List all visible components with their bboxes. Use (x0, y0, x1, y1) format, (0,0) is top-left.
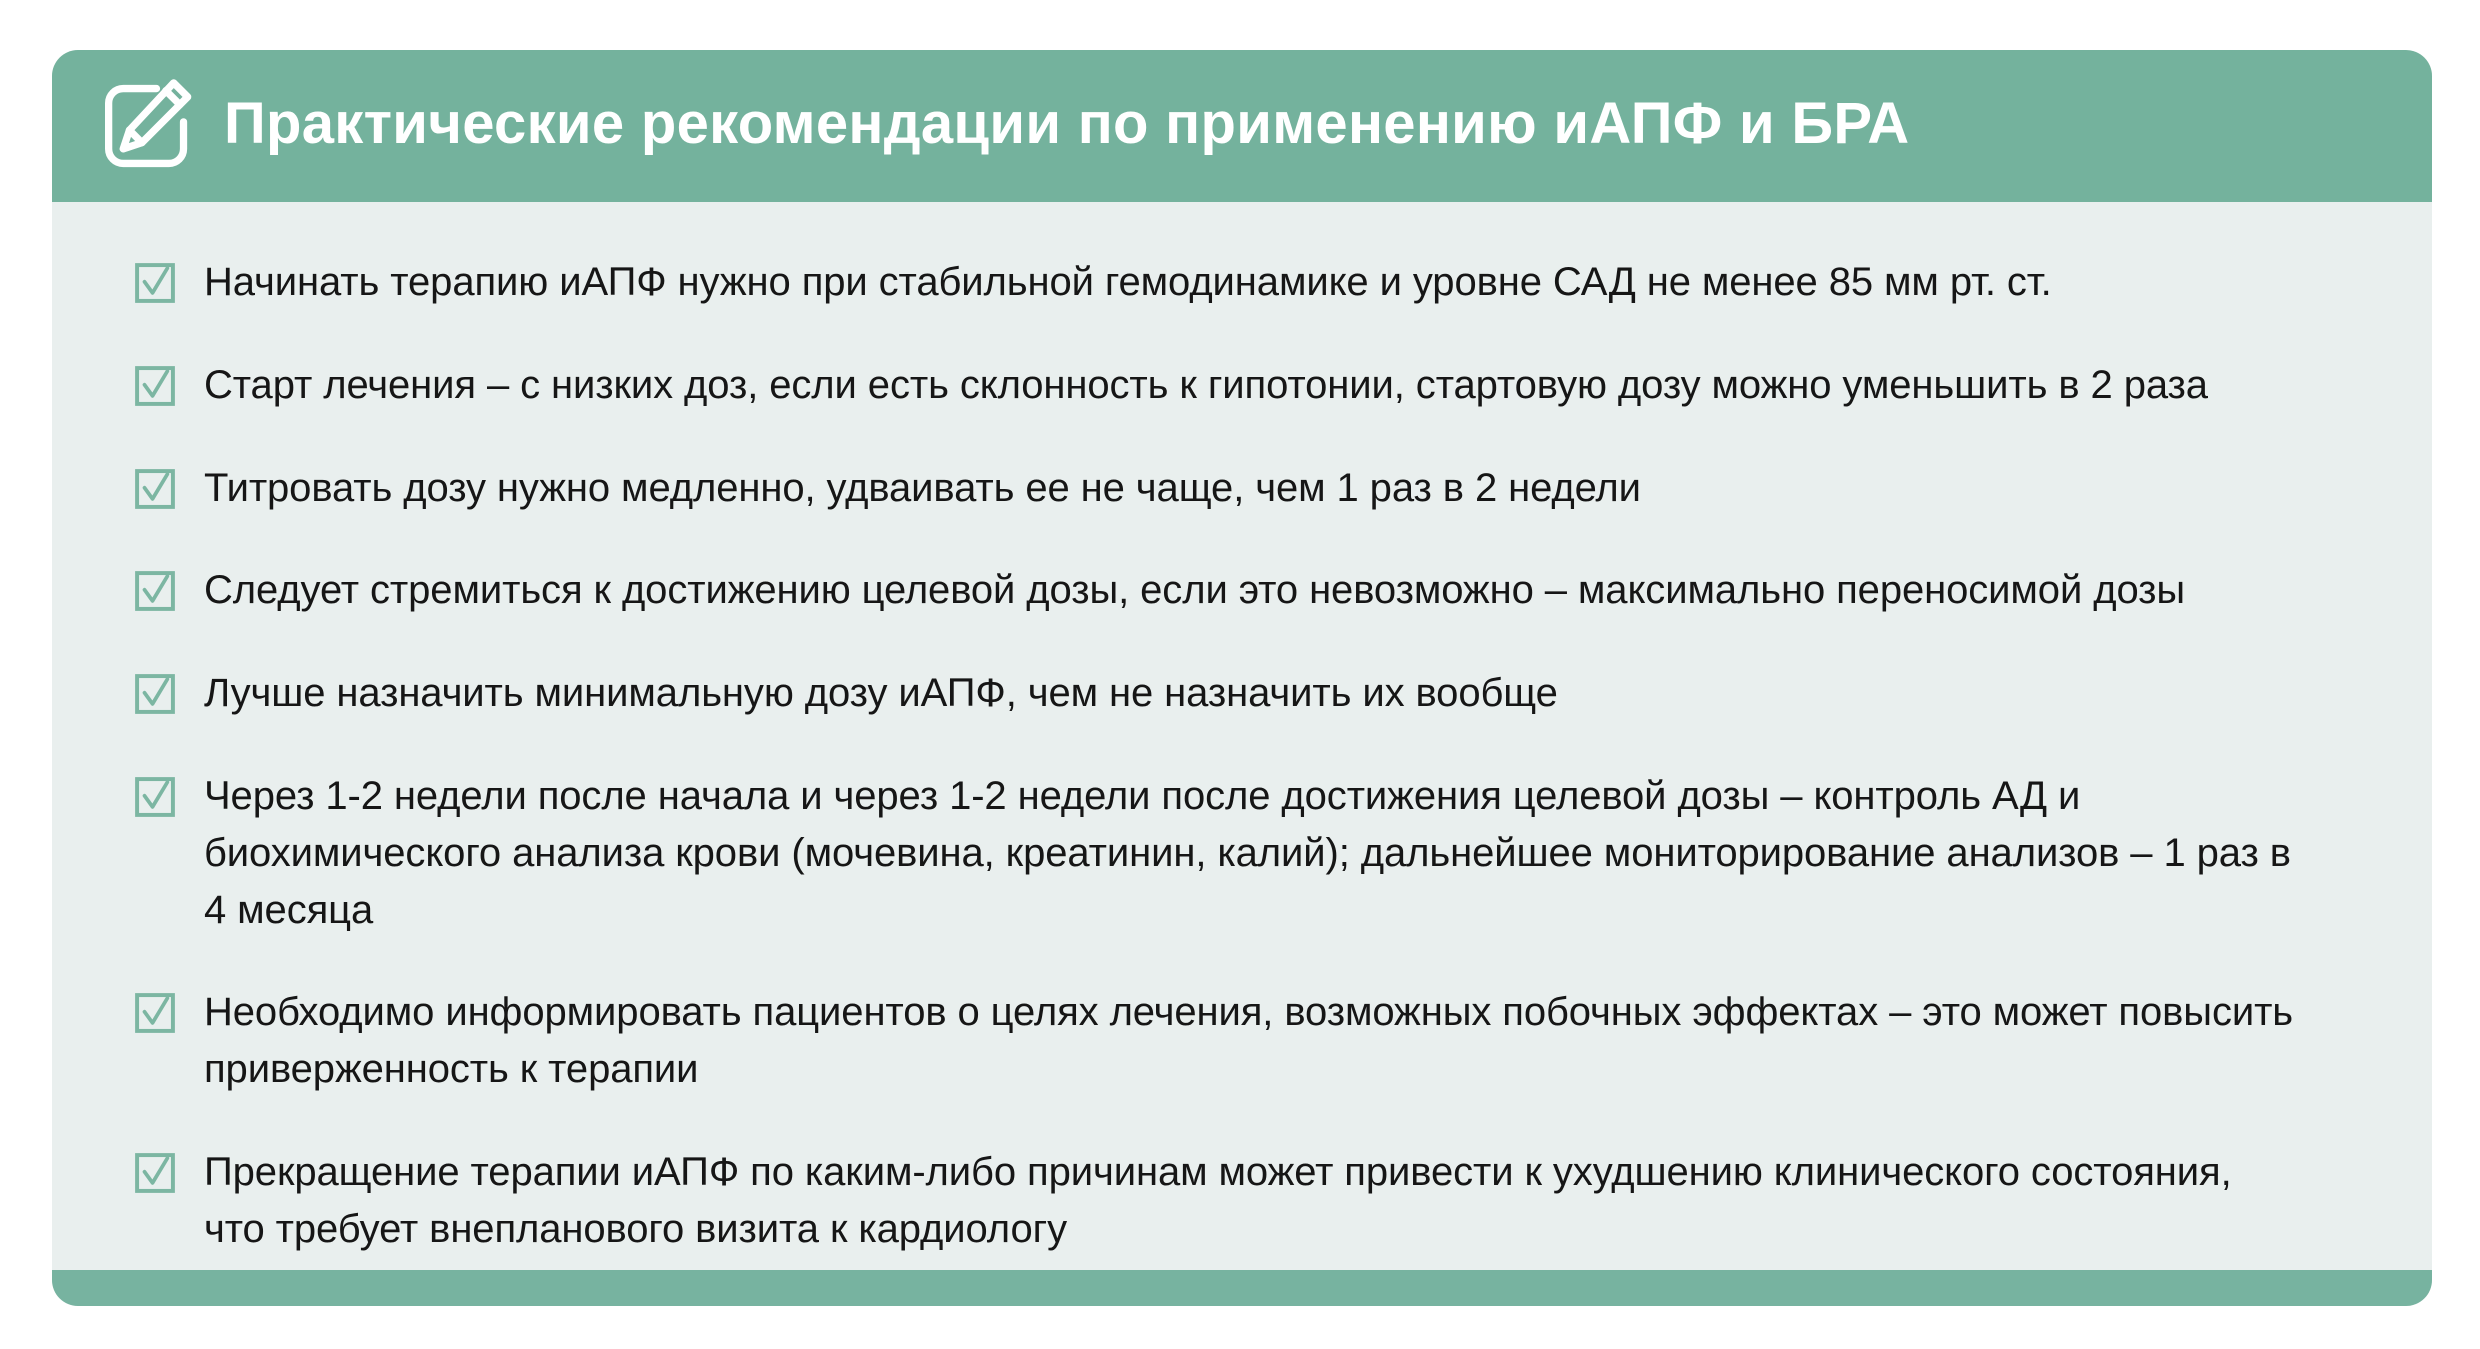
list-item-text: Необходимо информировать пациентов о цел… (204, 984, 2334, 1098)
list-item: Старт лечения – с низких доз, если есть … (134, 357, 2360, 414)
list-item: Лучше назначить минимальную дозу иАПФ, ч… (134, 665, 2360, 722)
checkbox-checked-icon (134, 776, 176, 818)
list-item: Начинать терапию иАПФ нужно при стабильн… (134, 254, 2360, 311)
list-item-text: Титровать дозу нужно медленно, удваивать… (204, 460, 1641, 517)
checkbox-checked-icon (134, 468, 176, 510)
list-item-text: Прекращение терапии иАПФ по каким-либо п… (204, 1144, 2264, 1258)
card-header: Практические рекомендации по применению … (52, 50, 2432, 202)
edit-pencil-square-icon (92, 74, 196, 178)
list-item-text: Следует стремиться к достижению целевой … (204, 562, 2185, 619)
list-item: Через 1-2 недели после начала и через 1-… (134, 768, 2360, 938)
list-item-text: Лучше назначить минимальную дозу иАПФ, ч… (204, 665, 1558, 722)
list-item-text: Старт лечения – с низких доз, если есть … (204, 357, 2208, 414)
list-item-text: Начинать терапию иАПФ нужно при стабильн… (204, 254, 2052, 311)
checkbox-checked-icon (134, 673, 176, 715)
list-item: Титровать дозу нужно медленно, удваивать… (134, 460, 2360, 517)
recommendations-card: Практические рекомендации по применению … (52, 50, 2432, 1306)
recommendations-checklist: Начинать терапию иАПФ нужно при стабильн… (52, 202, 2432, 1258)
checkbox-checked-icon (134, 570, 176, 612)
checkbox-checked-icon (134, 1152, 176, 1194)
card-title: Практические рекомендации по применению … (224, 95, 1909, 157)
checkbox-checked-icon (134, 992, 176, 1034)
list-item: Прекращение терапии иАПФ по каким-либо п… (134, 1144, 2360, 1258)
list-item: Необходимо информировать пациентов о цел… (134, 984, 2360, 1098)
checkbox-checked-icon (134, 365, 176, 407)
card-footer-strip (52, 1270, 2432, 1306)
list-item-text: Через 1-2 недели после начала и через 1-… (204, 768, 2294, 938)
list-item: Следует стремиться к достижению целевой … (134, 562, 2360, 619)
checkbox-checked-icon (134, 262, 176, 304)
slide-page: Практические рекомендации по применению … (0, 0, 2480, 1349)
